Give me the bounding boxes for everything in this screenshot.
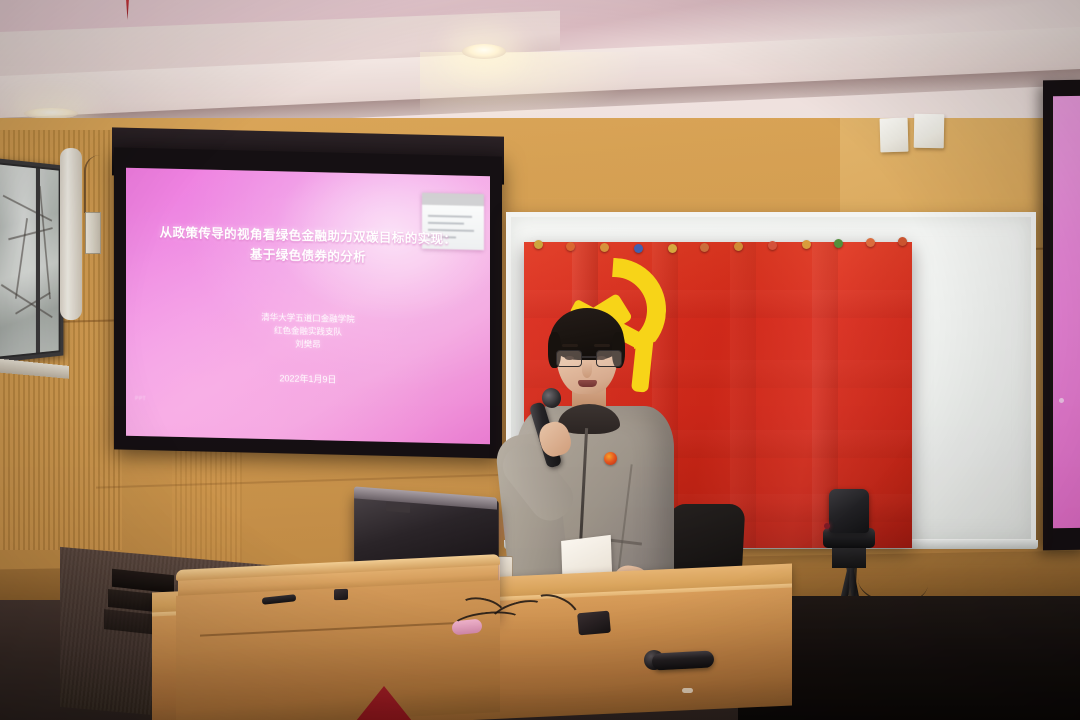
lecture-hall-photo: 从政策传导的视角看绿色金融助力双碳目标的实现： 基于绿色债券的分析 清华大学五道…	[0, 0, 1080, 720]
flag-pin	[668, 244, 677, 253]
window-mullion	[36, 168, 40, 352]
flag-pin	[834, 239, 843, 248]
ceiling-downlight-icon	[462, 44, 506, 59]
video-camera-on-tripod	[829, 489, 869, 533]
flag-pin	[600, 243, 609, 252]
presenter-eyebrow	[594, 344, 610, 347]
side-projection-screen	[1053, 96, 1080, 529]
flag-pin	[734, 242, 743, 251]
flag-pin	[700, 243, 709, 252]
presenter-eyebrow	[562, 344, 578, 347]
flag-pin	[634, 244, 643, 253]
slide-watermark: PPT	[135, 396, 146, 402]
slide-affiliation: 清华大学五道口金融学院 红色金融实践支队 刘樊昂	[126, 308, 490, 356]
side-screen-marker	[1059, 398, 1064, 403]
flag-pin	[768, 241, 777, 250]
presenter-mouth	[578, 380, 597, 387]
small-hardware	[682, 688, 693, 693]
camera-record-led-icon	[824, 523, 830, 529]
flag-pin	[566, 242, 575, 251]
exterior-window	[0, 158, 63, 363]
presentation-slide: 从政策传导的视角看绿色金融助力双碳目标的实现： 基于绿色债券的分析 清华大学五道…	[126, 168, 490, 445]
slide-date: 2022年1月9日	[126, 368, 490, 390]
wall-conduit	[60, 148, 82, 320]
notice-sheet-left	[880, 118, 909, 153]
party-emblem-lapel-pin-icon	[604, 452, 617, 465]
wall-cable	[84, 155, 102, 213]
spare-microphone[interactable]	[652, 650, 715, 670]
slide-title: 从政策传导的视角看绿色金融助力双碳目标的实现： 基于绿色债券的分析	[126, 222, 490, 271]
tripod-head	[832, 546, 866, 568]
window-glass	[0, 165, 59, 357]
presenter-nose	[582, 362, 592, 378]
flag-pin	[898, 237, 907, 246]
notice-sheet-right	[914, 114, 945, 149]
flag-pin	[534, 240, 543, 249]
monitor-brand-badge	[386, 502, 410, 513]
usb-receiver[interactable]	[334, 589, 348, 600]
flag-pin	[866, 238, 875, 247]
power-adapter	[577, 611, 611, 636]
flag-pin	[802, 240, 811, 249]
wall-junction-box	[85, 212, 101, 254]
